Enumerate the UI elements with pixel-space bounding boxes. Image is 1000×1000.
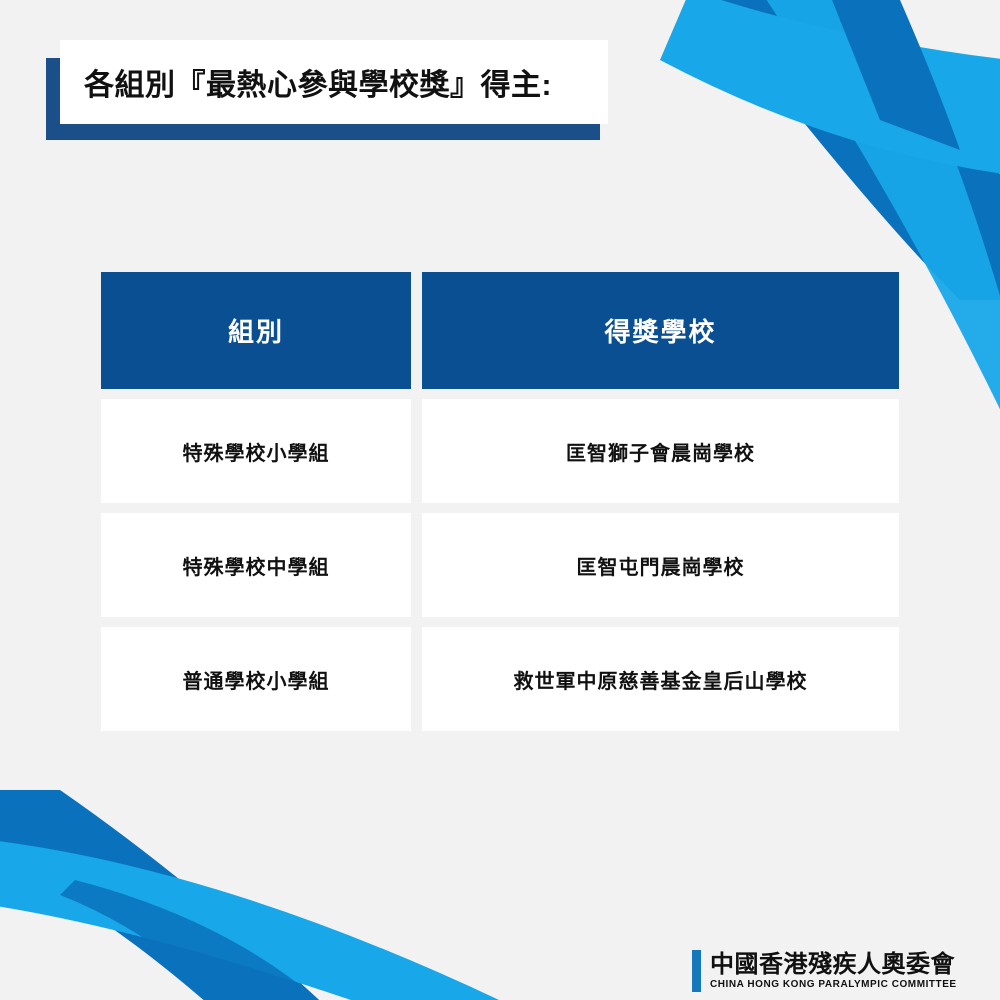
cell-group: 特殊學校小學組: [101, 399, 411, 503]
table-row: 特殊學校中學組 匡智屯門晨崗學校: [101, 513, 899, 617]
cell-school: 匡智獅子會晨崗學校: [422, 399, 899, 503]
ribbon-decoration-bottom-left: [0, 790, 520, 1000]
cell-group-label: 普通學校小學組: [183, 665, 330, 694]
table-row: 特殊學校小學組 匡智獅子會晨崗學校: [101, 399, 899, 503]
cell-group-label: 特殊學校中學組: [183, 551, 330, 580]
cell-school-label: 救世軍中原慈善基金皇后山學校: [514, 665, 808, 694]
column-header-school: 得獎學校: [422, 272, 899, 389]
cell-group: 普通學校小學組: [101, 627, 411, 731]
cell-school: 匡智屯門晨崗學校: [422, 513, 899, 617]
cell-school-label: 匡智獅子會晨崗學校: [566, 437, 755, 466]
column-header-group-label: 組別: [228, 312, 284, 349]
page-title: 各組別『最熱心參與學校獎』得主:: [84, 60, 552, 104]
cell-group-label: 特殊學校小學組: [183, 437, 330, 466]
cell-school: 救世軍中原慈善基金皇后山學校: [422, 627, 899, 731]
cell-group: 特殊學校中學組: [101, 513, 411, 617]
organization-logo: 中國香港殘疾人奧委會 CHINA HONG KONG PARALYMPIC CO…: [692, 950, 957, 992]
title-panel: 各組別『最熱心參與學校獎』得主:: [60, 40, 608, 124]
table-header-row: 組別 得獎學校: [101, 272, 899, 389]
column-header-school-label: 得獎學校: [604, 312, 716, 349]
logo-english-name: CHINA HONG KONG PARALYMPIC COMMITTEE: [710, 979, 957, 990]
logo-chinese-name: 中國香港殘疾人奧委會: [710, 952, 957, 977]
logo-bar-icon: [692, 950, 701, 992]
table-row: 普通學校小學組 救世軍中原慈善基金皇后山學校: [101, 627, 899, 731]
cell-school-label: 匡智屯門晨崗學校: [577, 551, 745, 580]
column-header-group: 組別: [101, 272, 411, 389]
slide-title-block: 各組別『最熱心參與學校獎』得主:: [46, 40, 608, 140]
logo-text-group: 中國香港殘疾人奧委會 CHINA HONG KONG PARALYMPIC CO…: [710, 950, 957, 992]
award-table: 組別 得獎學校 特殊學校小學組 匡智獅子會晨崗學校 特殊學校中學組 匡智屯門晨崗…: [101, 272, 899, 731]
